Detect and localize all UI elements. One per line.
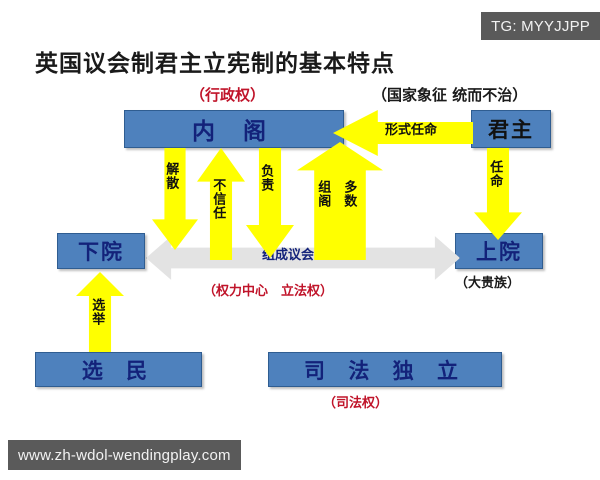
node-house-of-commons[interactable]: 下院	[57, 233, 145, 269]
arrow-responsible: 负责	[246, 148, 294, 258]
diagram-canvas: TG: MYYJJPP www.zh-wdol-wendingplay.com …	[0, 0, 600, 480]
arrow-election-label: 选举	[90, 298, 103, 326]
arrow-formal-appointment-label: 形式任命	[385, 124, 437, 137]
arrow-form-cabinet-majority: 组阁 多数	[297, 142, 383, 260]
page-title: 英国议会制君主立宪制的基本特点	[35, 44, 395, 78]
telegram-watermark: TG: MYYJJPP	[481, 12, 600, 40]
annotation-great-nobles: （大贵族）	[455, 272, 520, 291]
arrow-majority-label: 多数	[342, 180, 355, 208]
site-watermark: www.zh-wdol-wendingplay.com	[8, 440, 241, 470]
annotation-power-center: （权力中心 立法权）	[203, 280, 333, 299]
node-voters[interactable]: 选 民	[35, 352, 202, 387]
arrow-election: 选举	[76, 272, 124, 352]
node-judicial-independence[interactable]: 司 法 独 立	[268, 352, 502, 387]
arrow-responsible-label: 负责	[259, 164, 272, 192]
node-cabinet[interactable]: 内 阁	[124, 110, 344, 148]
arrow-form-cabinet-label: 组阁	[316, 180, 329, 208]
annotation-judicial-power: （司法权）	[323, 392, 388, 411]
arrow-appointment: 任命	[474, 148, 522, 240]
annotation-state-symbol: （国家象征 统而不治）	[372, 84, 527, 105]
arrow-dissolve: 解散	[152, 148, 198, 250]
arrow-no-confidence: 不信任	[197, 148, 245, 260]
arrow-no-confidence-label: 不信任	[211, 178, 224, 220]
arrow-appointment-label: 任命	[488, 160, 501, 188]
node-monarch[interactable]: 君主	[471, 110, 551, 148]
annotation-executive-power: （行政权）	[190, 84, 265, 105]
arrow-formal-appointment: 形式任命	[333, 110, 473, 156]
arrow-dissolve-label: 解散	[164, 162, 177, 190]
